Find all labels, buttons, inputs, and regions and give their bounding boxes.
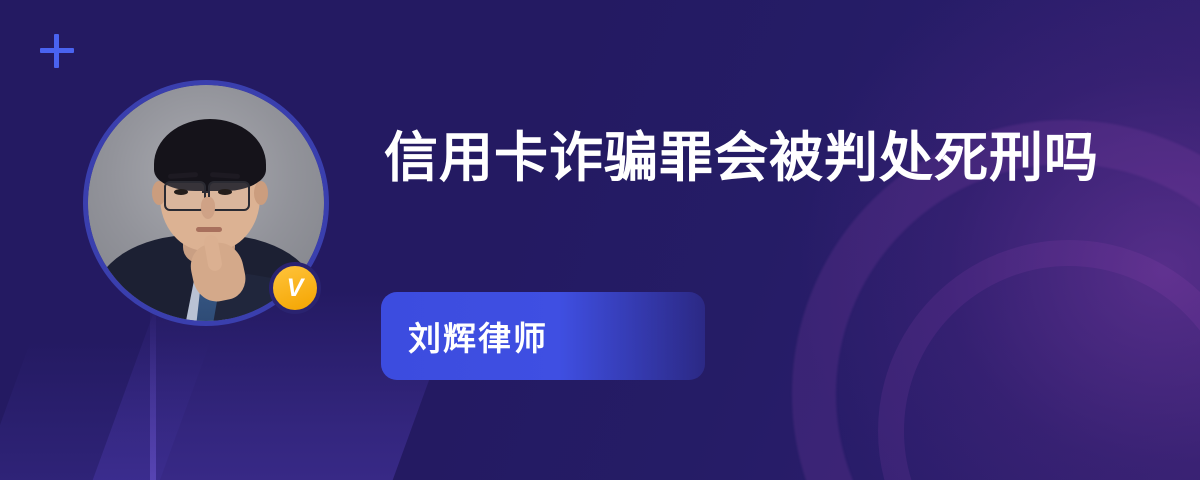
promo-banner: V 信用卡诈骗罪会被判处死刑吗 刘辉律师 [0,0,1200,480]
author-name: 刘辉律师 [408,312,548,360]
plus-icon [40,34,74,68]
verified-badge-icon: V [269,262,321,314]
page-title: 信用卡诈骗罪会被判处死刑吗 [384,122,1114,195]
avatar: V [83,80,339,400]
author-chip: 刘辉律师 [381,292,705,380]
